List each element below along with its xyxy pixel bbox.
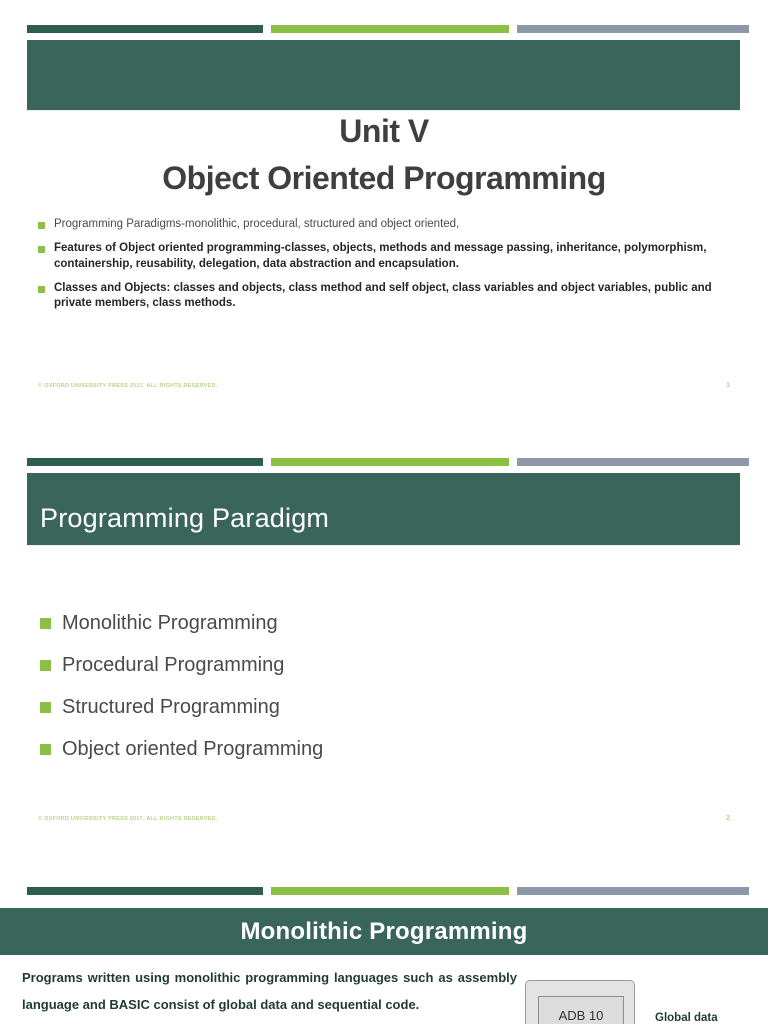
accent-bar [27, 25, 749, 33]
square-bullet-icon [40, 744, 51, 755]
accent-segment-gray [517, 25, 749, 33]
accent-segment-gray [517, 887, 749, 895]
square-bullet-icon [40, 660, 51, 671]
title-line-unit: Unit V [0, 113, 768, 150]
list-item-label: Monolithic Programming [62, 612, 278, 635]
diagram-box-label: ADB 10 [559, 1000, 604, 1023]
slide-1-bullet-list: Programming Paradigms-monolithic, proced… [38, 217, 738, 320]
slide-footer: © OXFORD UNIVERSITY PRESS 2017. ALL RIGH… [38, 815, 730, 822]
diagram-inner-box: ADB 10 [538, 996, 624, 1024]
slide-programming-paradigm: Programming Paradigm Monolithic Programm… [0, 420, 768, 875]
list-item: Object oriented Programming [40, 738, 640, 761]
copyright-text: © OXFORD UNIVERSITY PRESS 2017. ALL RIGH… [38, 383, 217, 389]
page-title: Unit V Object Oriented Programming [0, 113, 768, 199]
title-banner: Monolithic Programming [0, 908, 768, 955]
list-item-label: Features of Object oriented programming-… [54, 241, 738, 272]
slide-2-bullet-list: Monolithic Programming Procedural Progra… [40, 612, 640, 780]
diagram-side-label: Global data [655, 1012, 718, 1024]
list-item: Classes and Objects: classes and objects… [38, 281, 738, 312]
accent-segment-green [271, 25, 509, 33]
title-line-subject: Object Oriented Programming [0, 158, 768, 200]
square-bullet-icon [38, 286, 45, 293]
list-item: Programming Paradigms-monolithic, proced… [38, 217, 738, 232]
accent-bar [27, 458, 749, 466]
list-item-label: Object oriented Programming [62, 738, 323, 761]
list-item-label: Programming Paradigms-monolithic, proced… [54, 217, 459, 232]
slide-footer: © OXFORD UNIVERSITY PRESS 2017. ALL RIGH… [38, 382, 730, 389]
slide-title-text: Programming Paradigm [40, 503, 329, 534]
page-number: 2 [726, 815, 730, 822]
diagram-outer-box: ADB 10 [525, 980, 635, 1024]
list-item-label: Procedural Programming [62, 654, 284, 677]
slide-body-text: Programs written using monolithic progra… [22, 965, 517, 1018]
accent-segment-dark [27, 25, 263, 33]
square-bullet-icon [40, 618, 51, 629]
list-item: Monolithic Programming [40, 612, 640, 635]
monolithic-diagram: ADB 10 Global data [525, 980, 768, 1024]
square-bullet-icon [40, 702, 51, 713]
copyright-text: © OXFORD UNIVERSITY PRESS 2017. ALL RIGH… [38, 816, 217, 822]
accent-segment-dark [27, 458, 263, 466]
square-bullet-icon [38, 222, 45, 229]
list-item-label: Structured Programming [62, 696, 280, 719]
accent-segment-green [271, 887, 509, 895]
square-bullet-icon [38, 246, 45, 253]
accent-segment-dark [27, 887, 263, 895]
accent-bar [27, 887, 749, 895]
list-item-label: Classes and Objects: classes and objects… [54, 281, 738, 312]
list-item: Procedural Programming [40, 654, 640, 677]
page-number: 1 [726, 382, 730, 389]
accent-segment-green [271, 458, 509, 466]
slide-title: Unit V Object Oriented Programming Progr… [0, 0, 768, 420]
slide-title-text: Monolithic Programming [240, 918, 527, 946]
list-item: Features of Object oriented programming-… [38, 241, 738, 272]
accent-segment-gray [517, 458, 749, 466]
title-banner [27, 40, 740, 110]
list-item: Structured Programming [40, 696, 640, 719]
slide-monolithic-programming: Monolithic Programming Programs written … [0, 875, 768, 1024]
